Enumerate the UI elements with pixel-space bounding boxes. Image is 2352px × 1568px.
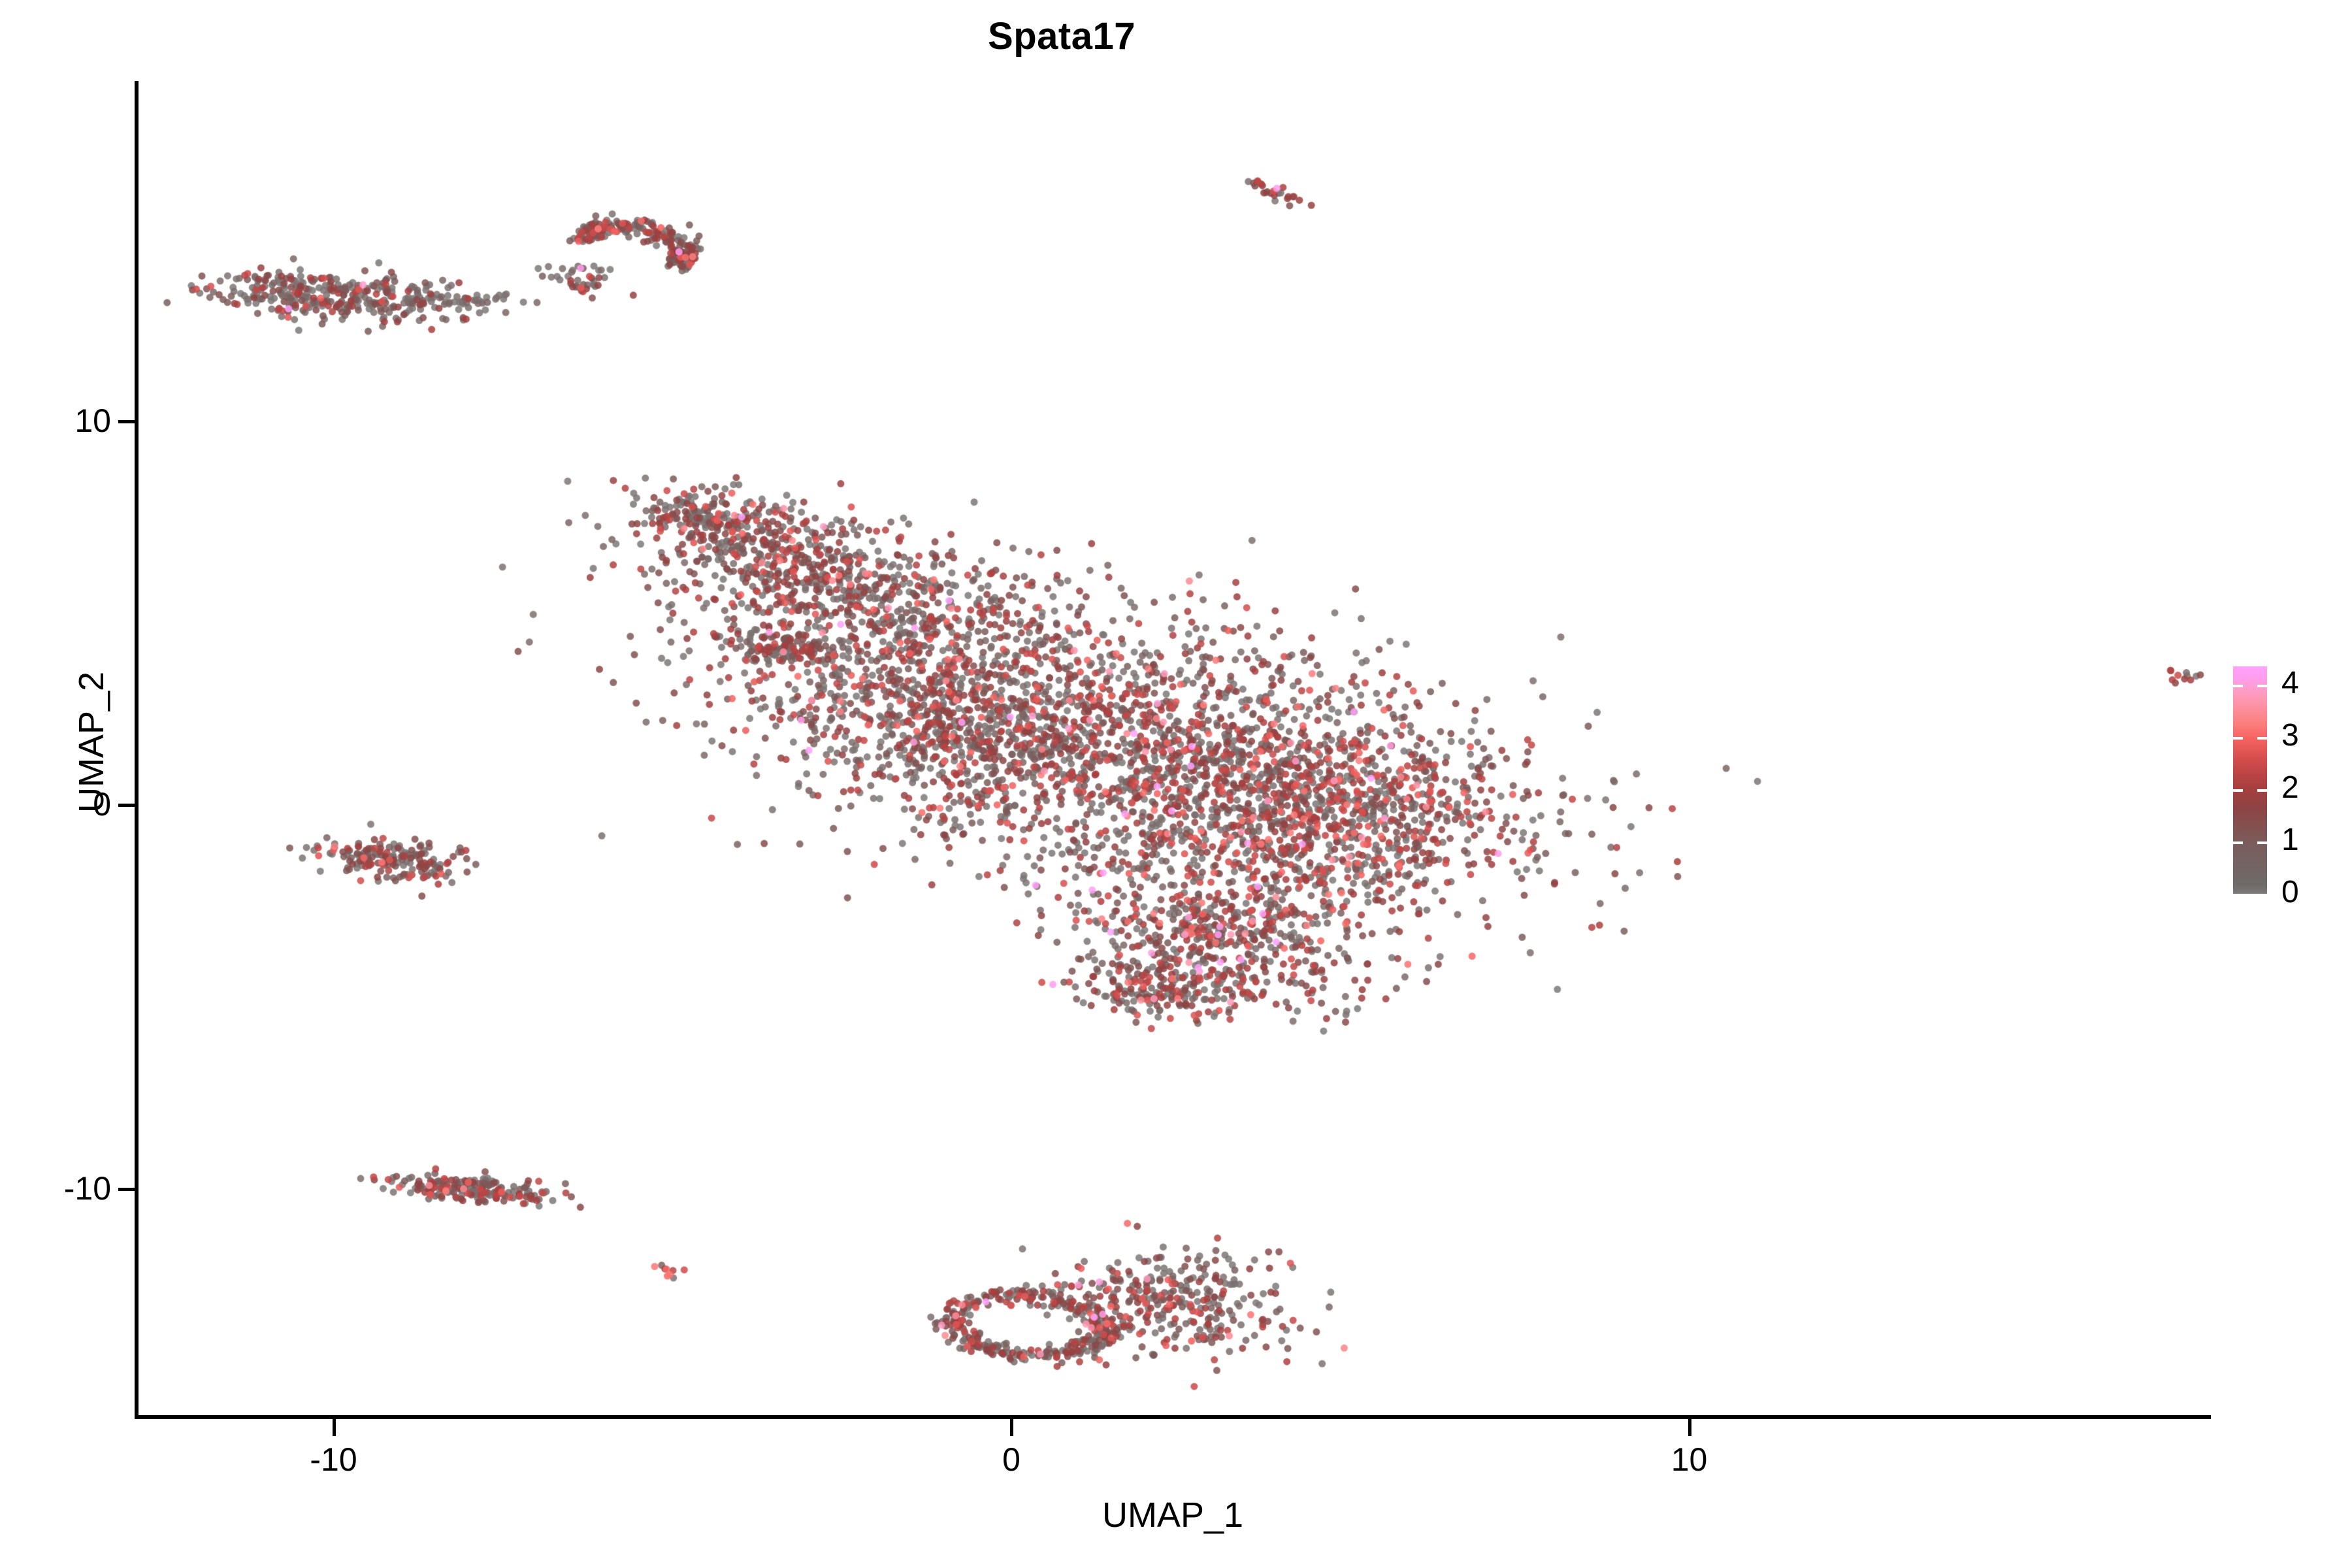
y-axis-label: UMAP_2 [71, 154, 112, 1330]
x-tick-label: -10 [236, 1441, 432, 1478]
scatter-plot-panel [139, 84, 2208, 1418]
y-tick-mark [118, 1188, 135, 1191]
colorbar-tick-mark [2233, 894, 2243, 896]
y-tick-mark [118, 420, 135, 423]
colorbar-legend: 43210 [2233, 657, 2344, 906]
colorbar-tick-mark [2257, 685, 2267, 687]
colorbar-tick-mark [2233, 789, 2243, 792]
page-title: Spata17 [0, 14, 2123, 58]
colorbar-tick-label: 4 [2281, 668, 2299, 699]
x-tick-mark [1010, 1419, 1013, 1436]
scatter-points-canvas [139, 84, 2208, 1418]
x-tick-mark [1688, 1419, 1691, 1436]
colorbar-tick-label: 2 [2281, 772, 2299, 804]
y-axis-line [135, 81, 139, 1419]
colorbar-tick-label: 1 [2281, 825, 2299, 856]
colorbar-tick-mark [2257, 841, 2267, 844]
colorbar-tick-mark [2233, 841, 2243, 844]
colorbar-tick-mark [2257, 894, 2267, 896]
x-axis-line [135, 1415, 2211, 1419]
colorbar-tick-mark [2233, 737, 2243, 740]
umap-figure: Spata17 100-10 -10010 UMAP_1 UMAP_2 4321… [0, 0, 2352, 1568]
colorbar-tick-mark [2233, 685, 2243, 687]
x-tick-label: 10 [1592, 1441, 1788, 1478]
colorbar-tick-label: 3 [2281, 720, 2299, 751]
colorbar-tick-mark [2257, 737, 2267, 740]
x-tick-mark [333, 1419, 336, 1436]
y-tick-mark [118, 804, 135, 807]
x-tick-label: 0 [913, 1441, 1109, 1478]
colorbar-tick-mark [2257, 789, 2267, 792]
x-axis-label: UMAP_1 [135, 1495, 2211, 1535]
colorbar-gradient [2233, 666, 2267, 894]
colorbar-tick-label: 0 [2281, 877, 2299, 908]
